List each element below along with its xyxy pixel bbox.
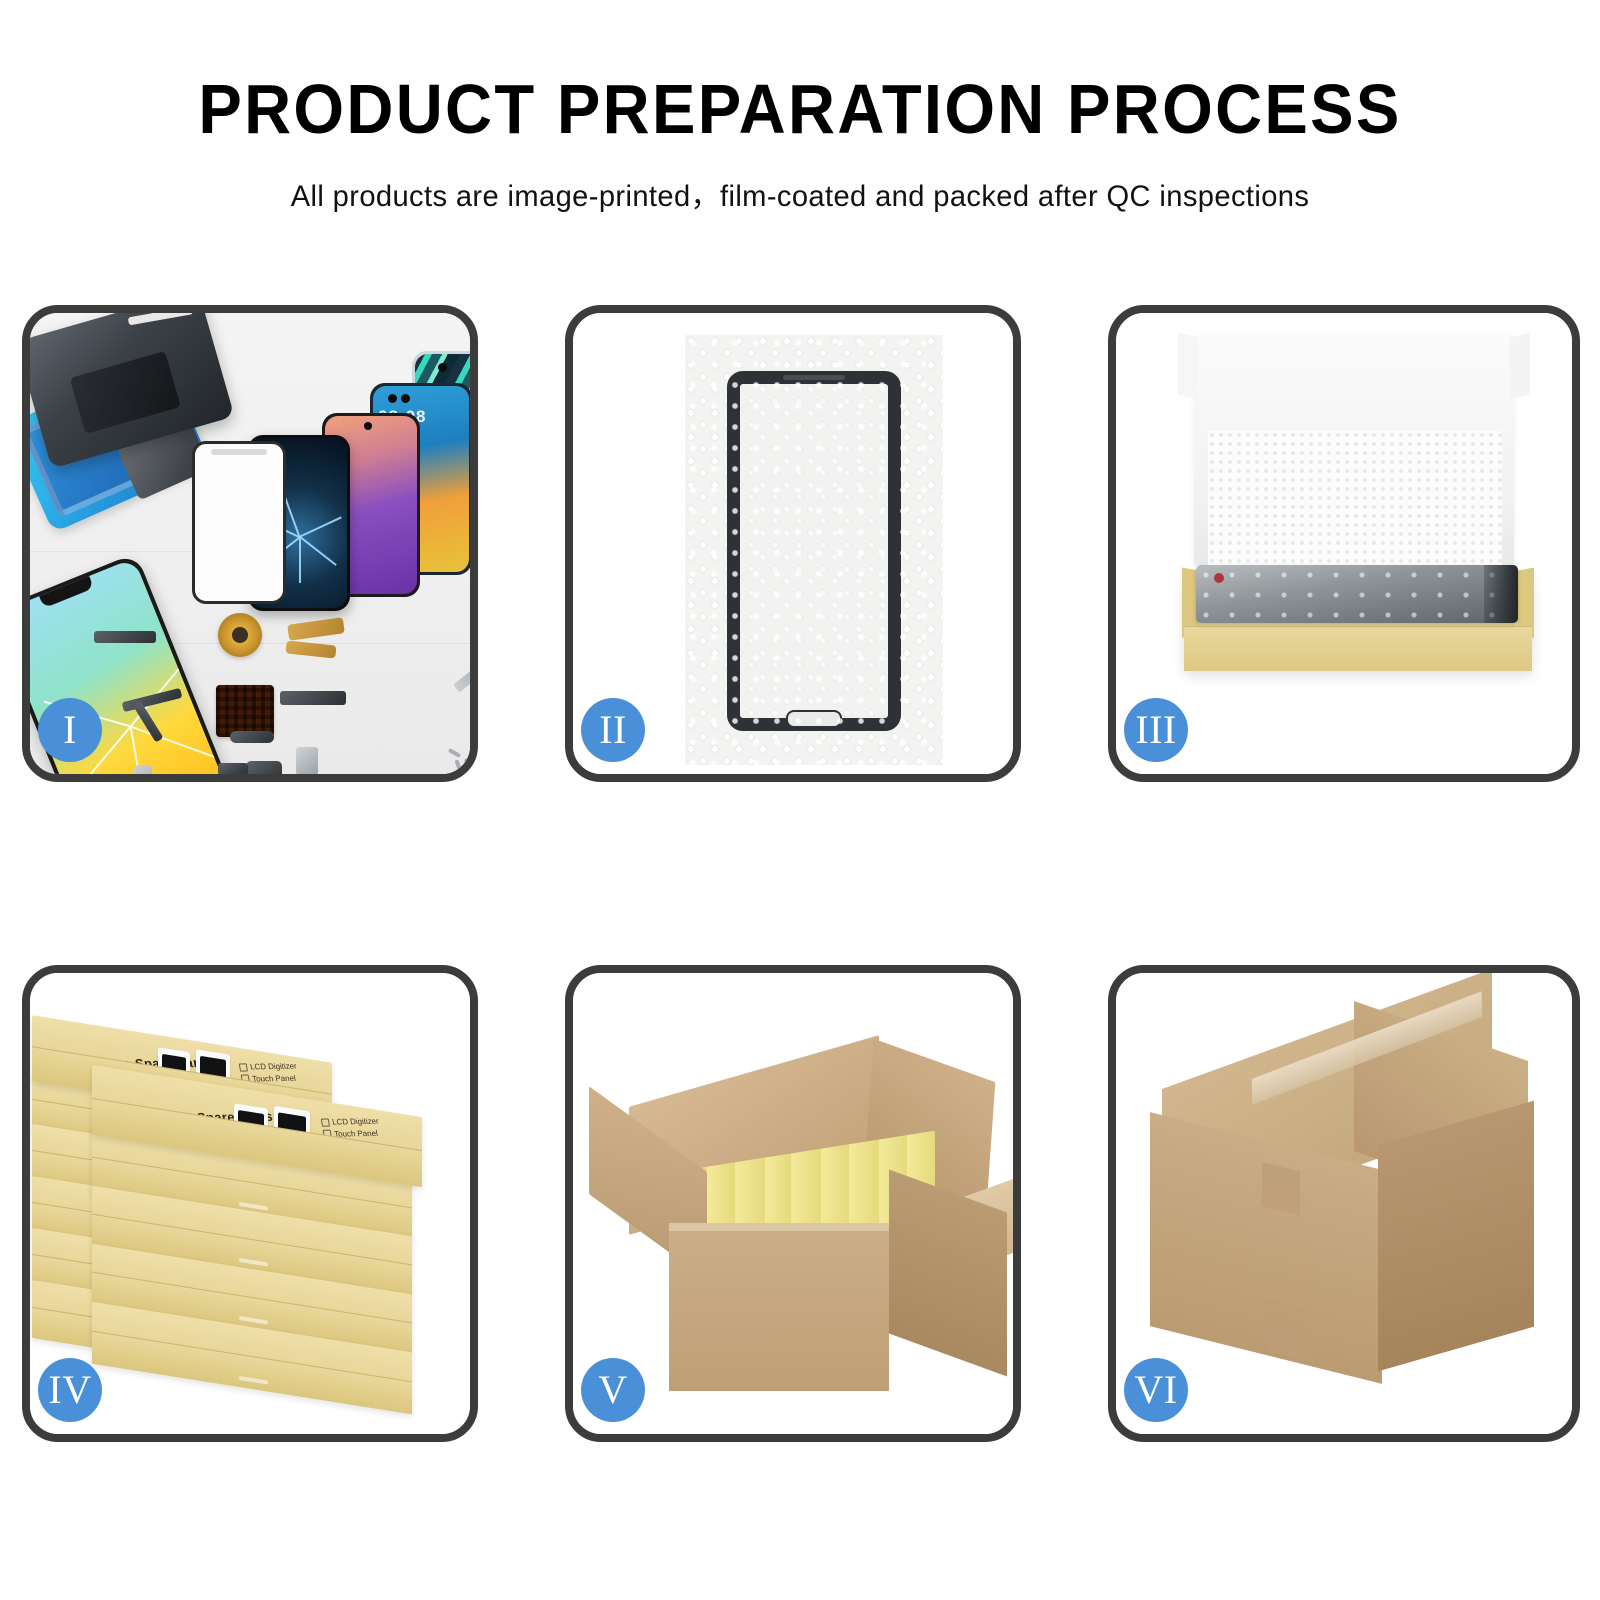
process-step-1[interactable]: 08:08 bbox=[22, 305, 478, 782]
wrapped-screen-in-box bbox=[1196, 565, 1518, 623]
process-step-3[interactable]: III bbox=[1108, 305, 1580, 782]
checklist-item: LCD Digitizer bbox=[331, 1116, 379, 1129]
process-step-grid: 08:08 bbox=[22, 305, 1580, 1442]
step-badge-5: V bbox=[581, 1358, 645, 1422]
carton-front-face bbox=[669, 1231, 889, 1391]
process-step-6[interactable]: VI bbox=[1108, 965, 1580, 1442]
front-glass-blank bbox=[192, 441, 286, 604]
step-4-photo: Mobile Phone Spare Parts LCD Digitizer T… bbox=[30, 973, 470, 1434]
step-6-photo bbox=[1116, 973, 1572, 1434]
step-badge-1: I bbox=[38, 698, 102, 762]
step-5-photo bbox=[573, 973, 1013, 1434]
tape-patch bbox=[1268, 1299, 1308, 1361]
ic-chip-part bbox=[216, 685, 274, 737]
page-subtitle: All products are image-printed，film-coat… bbox=[24, 171, 1576, 215]
camera-module-part bbox=[246, 761, 282, 774]
tape-patch bbox=[1262, 1162, 1300, 1215]
small-connector-part bbox=[218, 763, 248, 774]
checklist-item: LCD Digitizer bbox=[249, 1060, 297, 1073]
foam-insert bbox=[1208, 431, 1502, 581]
box-stack: Mobile Phone Spare Parts LCD Digitizer T… bbox=[30, 973, 470, 1434]
screen-digitizer bbox=[727, 371, 901, 731]
earpiece-part bbox=[230, 731, 274, 743]
process-step-4[interactable]: Mobile Phone Spare Parts LCD Digitizer T… bbox=[22, 965, 478, 1442]
bubble-wrap-sheet bbox=[685, 335, 943, 765]
carton-right-face bbox=[1378, 1101, 1534, 1372]
header: PRODUCT PREPARATION PROCESS All products… bbox=[0, 0, 1600, 215]
step-3-photo bbox=[1116, 313, 1572, 774]
page-title: PRODUCT PREPARATION PROCESS bbox=[56, 74, 1544, 145]
process-step-5[interactable]: V bbox=[565, 965, 1021, 1442]
screws-group bbox=[448, 751, 470, 771]
vibration-motor-part bbox=[296, 747, 318, 774]
flex-cable-part bbox=[280, 691, 346, 705]
process-step-2[interactable]: II bbox=[565, 305, 1021, 782]
step-badge-2: II bbox=[581, 698, 645, 762]
step-badge-6: VI bbox=[1124, 1358, 1188, 1422]
infographic-page: PRODUCT PREPARATION PROCESS All products… bbox=[0, 0, 1600, 1600]
wireless-charging-coil bbox=[218, 613, 262, 657]
step-1-photo: 08:08 bbox=[30, 313, 470, 774]
sim-tray-part bbox=[134, 765, 152, 774]
speaker-part bbox=[94, 631, 156, 643]
step-badge-4: IV bbox=[38, 1358, 102, 1422]
step-2-photo bbox=[573, 313, 1013, 774]
step-badge-3: III bbox=[1124, 698, 1188, 762]
